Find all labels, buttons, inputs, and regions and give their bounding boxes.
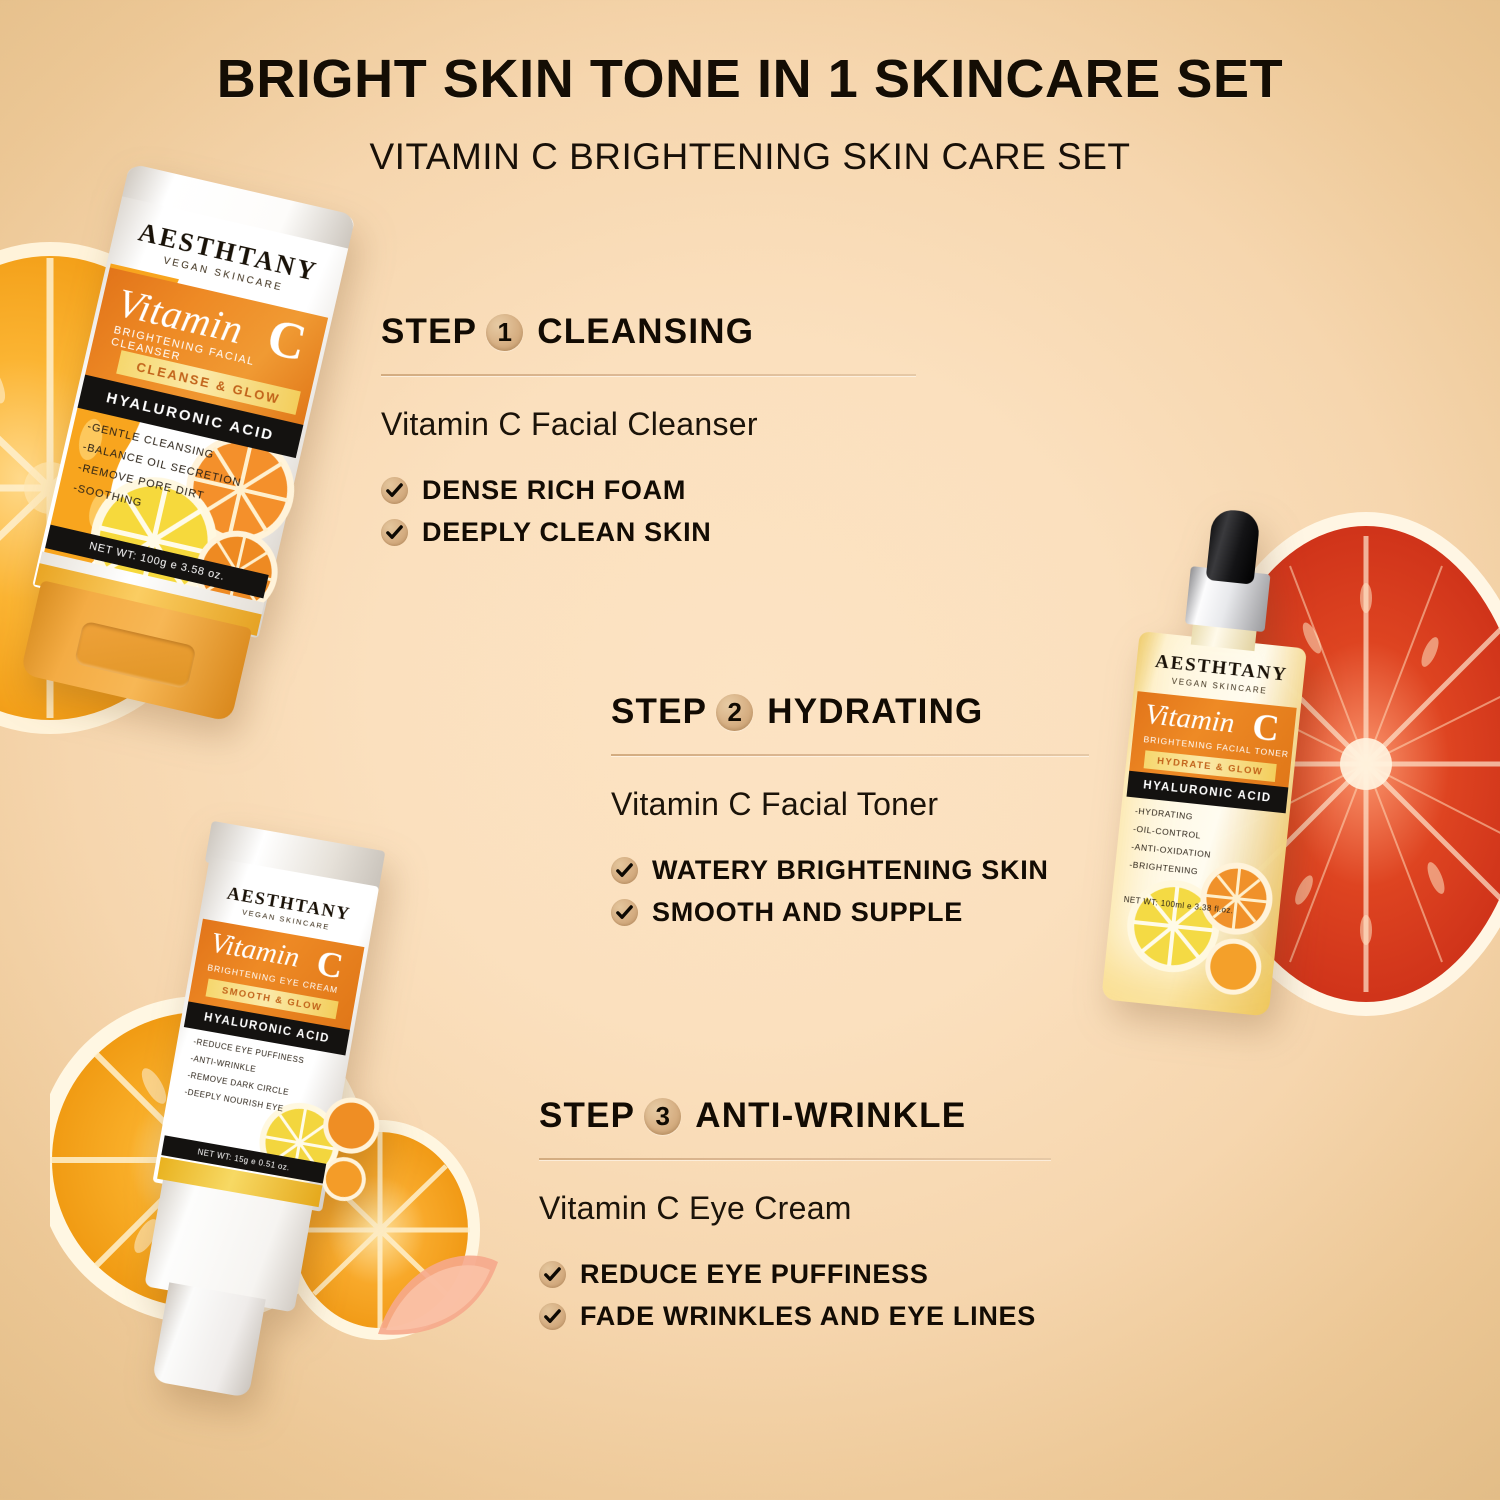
step-1-benefits: DENSE RICH FOAM DEEPLY CLEAN SKIN bbox=[381, 475, 921, 548]
check-icon bbox=[381, 519, 408, 546]
step-title: HYDRATING bbox=[767, 692, 983, 732]
toner-bullets: -HYDRATING -OIL-CONTROL -ANTI-OXIDATION … bbox=[1128, 806, 1215, 886]
list-item: REDUCE EYE PUFFINESS bbox=[539, 1259, 1059, 1290]
step-label: STEP bbox=[539, 1096, 635, 1136]
benefit-label: WATERY BRIGHTENING SKIN bbox=[652, 855, 1049, 886]
step-2-benefits: WATERY BRIGHTENING SKIN SMOOTH AND SUPPL… bbox=[611, 855, 1091, 928]
check-icon bbox=[539, 1261, 566, 1288]
eye-cream-nozzle bbox=[152, 1282, 266, 1397]
list-item: WATERY BRIGHTENING SKIN bbox=[611, 855, 1091, 886]
step-number-badge: 2 bbox=[716, 694, 753, 731]
step-title: CLEANSING bbox=[537, 312, 754, 352]
step-2-divider bbox=[611, 754, 1089, 756]
step-3-heading: STEP 3 ANTI-WRINKLE bbox=[539, 1096, 1059, 1136]
list-item: DENSE RICH FOAM bbox=[381, 475, 921, 506]
list-item: -ANTI-OXIDATION bbox=[1131, 841, 1212, 859]
list-item: DEEPLY CLEAN SKIN bbox=[381, 517, 921, 548]
step-label: STEP bbox=[381, 312, 477, 352]
check-icon bbox=[611, 899, 638, 926]
step-section-1: STEP 1 CLEANSING Vitamin C Facial Cleans… bbox=[381, 312, 921, 559]
benefit-label: DENSE RICH FOAM bbox=[422, 475, 686, 506]
step-1-product-name: Vitamin C Facial Cleanser bbox=[381, 406, 921, 443]
step-3-benefits: REDUCE EYE PUFFINESS FADE WRINKLES AND E… bbox=[539, 1259, 1059, 1332]
step-number-badge: 3 bbox=[644, 1098, 681, 1135]
step-title: ANTI-WRINKLE bbox=[695, 1096, 966, 1136]
step-section-2: STEP 2 HYDRATING Vitamin C Facial Toner … bbox=[611, 692, 1091, 939]
step-2-product-name: Vitamin C Facial Toner bbox=[611, 786, 1091, 823]
step-section-3: STEP 3 ANTI-WRINKLE Vitamin C Eye Cream … bbox=[539, 1096, 1059, 1343]
list-item: -BRIGHTENING bbox=[1129, 859, 1210, 877]
toner-dropper-bulb-icon bbox=[1206, 508, 1261, 585]
list-item: -OIL-CONTROL bbox=[1133, 823, 1214, 841]
step-2-heading: STEP 2 HYDRATING bbox=[611, 692, 1091, 732]
benefit-label: REDUCE EYE PUFFINESS bbox=[580, 1259, 929, 1290]
check-icon bbox=[539, 1303, 566, 1330]
page-subtitle: VITAMIN C BRIGHTENING SKIN CARE SET bbox=[0, 136, 1500, 178]
benefit-label: DEEPLY CLEAN SKIN bbox=[422, 517, 711, 548]
toner-letter-c: C bbox=[1250, 705, 1281, 751]
page-title: BRIGHT SKIN TONE IN 1 SKINCARE SET bbox=[0, 48, 1500, 110]
step-label: STEP bbox=[611, 692, 707, 732]
step-3-product-name: Vitamin C Eye Cream bbox=[539, 1190, 1059, 1227]
step-1-divider bbox=[381, 374, 916, 376]
benefit-label: FADE WRINKLES AND EYE LINES bbox=[580, 1301, 1036, 1332]
check-icon bbox=[381, 477, 408, 504]
step-number-badge: 1 bbox=[486, 314, 523, 351]
list-item: FADE WRINKLES AND EYE LINES bbox=[539, 1301, 1059, 1332]
step-3-divider bbox=[539, 1158, 1051, 1160]
check-icon bbox=[611, 857, 638, 884]
peach-slice-bottom bbox=[372, 1238, 502, 1348]
benefit-label: SMOOTH AND SUPPLE bbox=[652, 897, 963, 928]
step-1-heading: STEP 1 CLEANSING bbox=[381, 312, 921, 352]
list-item: SMOOTH AND SUPPLE bbox=[611, 897, 1091, 928]
